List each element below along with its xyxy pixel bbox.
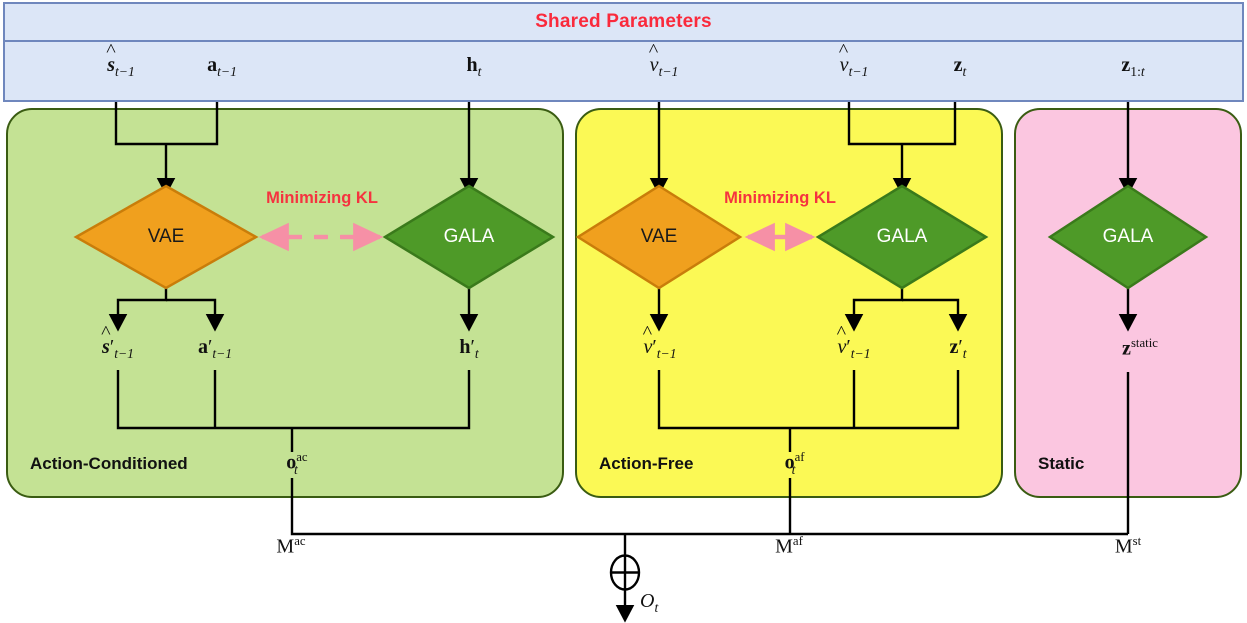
output-var-a-prime-t-minus-1: a′t−1	[198, 336, 232, 362]
input-var-a-t-minus-1: at−1	[207, 54, 237, 80]
output-var-v-hat-prime-t-minus-1-right: v′t−1	[837, 336, 870, 362]
kl-label-action-free: Minimizing KL	[724, 189, 836, 208]
kl-label-action-conditioned: Minimizing KL	[266, 189, 378, 208]
circled-plus-shape	[611, 556, 639, 590]
node-gala-action-conditioned[interactable]: GALA	[444, 226, 495, 248]
node-label-vae-ac: VAE	[148, 226, 185, 248]
shared-parameters-variables: st−1 at−1 ht vt−1 vt−1 zt z1:t	[5, 42, 1242, 100]
output-var-z-static: zstatic	[1122, 336, 1158, 361]
output-var-h-prime-t: h′t	[459, 336, 478, 362]
panel-static: Static	[1014, 108, 1242, 498]
panel-action-conditioned: Action-Conditioned	[6, 108, 564, 498]
output-var-s-hat-prime-t-minus-1: s′t−1	[102, 336, 134, 362]
bus-label-m-af: Maf	[775, 534, 803, 559]
merge-label-o-t-ac: oact	[286, 450, 298, 478]
bus-label-m-st: Mst	[1115, 534, 1141, 559]
node-vae-action-conditioned[interactable]: VAE	[148, 226, 185, 248]
diagram-canvas: Shared Parameters st−1 at−1 ht vt−1 vt−1…	[0, 0, 1247, 623]
output-var-z-prime-t: z′t	[949, 336, 966, 362]
node-label-vae-af: VAE	[641, 226, 678, 248]
bus-label-m-ac: Mac	[276, 534, 305, 559]
node-gala-action-free[interactable]: GALA	[877, 226, 928, 248]
panel-label-action-conditioned: Action-Conditioned	[30, 454, 188, 474]
input-var-z-t: zt	[954, 54, 967, 80]
node-gala-static[interactable]: GALA	[1103, 226, 1154, 248]
panel-label-action-free: Action-Free	[599, 454, 693, 474]
merge-label-o-t-af: oaft	[785, 450, 796, 478]
shared-parameters-title: Shared Parameters	[535, 11, 712, 33]
node-label-gala-ac: GALA	[444, 226, 495, 248]
panel-action-free: Action-Free	[575, 108, 1003, 498]
input-var-v-hat-t-minus-1-left: vt−1	[650, 54, 679, 80]
output-var-v-hat-prime-t-minus-1-left: v′t−1	[643, 336, 676, 362]
input-var-z-1-to-t: z1:t	[1121, 54, 1144, 80]
node-label-gala-af: GALA	[877, 226, 928, 248]
shared-parameters-header: Shared Parameters	[5, 4, 1242, 42]
input-var-h-t: ht	[467, 54, 482, 80]
final-output-label: Ot	[640, 590, 658, 616]
input-var-s-hat-t-minus-1: st−1	[107, 54, 135, 80]
input-var-v-hat-t-minus-1-right: vt−1	[840, 54, 869, 80]
node-vae-action-free[interactable]: VAE	[641, 226, 678, 248]
panel-label-static: Static	[1038, 454, 1084, 474]
node-label-gala-static: GALA	[1103, 226, 1154, 248]
shared-parameters-panel: Shared Parameters st−1 at−1 ht vt−1 vt−1…	[3, 2, 1244, 102]
